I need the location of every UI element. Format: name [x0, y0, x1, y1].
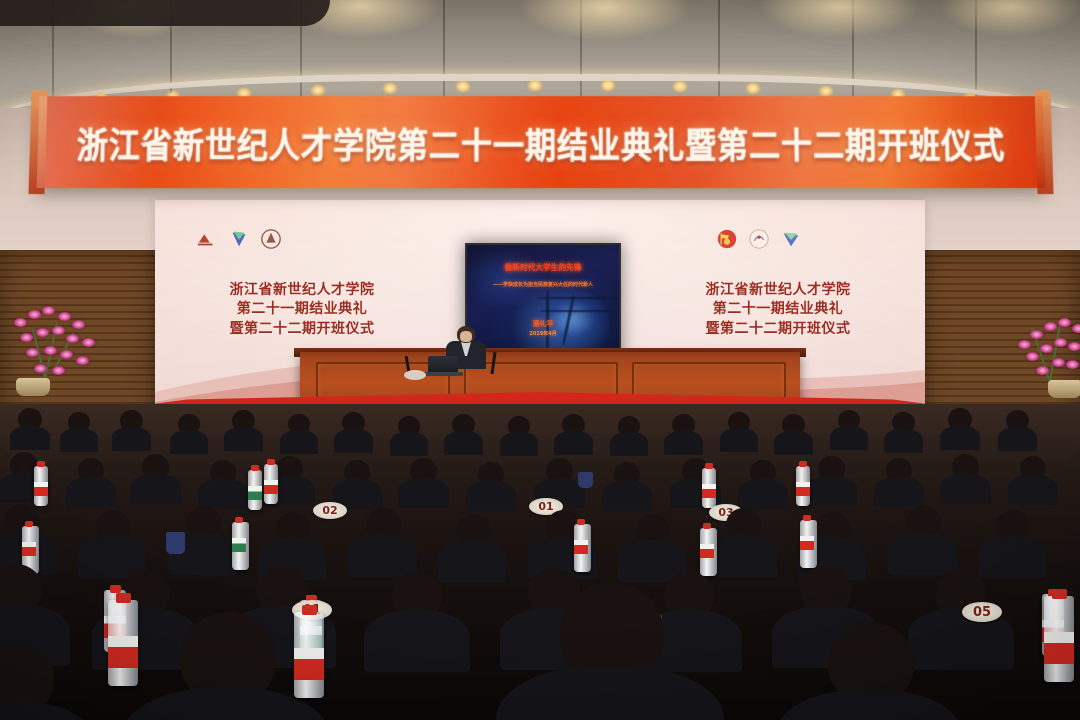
backdrop-logos-left	[196, 228, 282, 250]
event-banner-text: 浙江省新世纪人才学院第二十一期结业典礼暨第二十二期开班仪式	[76, 117, 1005, 167]
circular-seal-icon	[748, 228, 770, 250]
laptop-base	[423, 372, 463, 376]
slide-title: 做新时代大学生的先锋	[470, 262, 616, 273]
orchid-arrangement-right	[1000, 296, 1080, 416]
circular-seal-icon	[260, 228, 282, 250]
orchid-arrangement-left	[4, 300, 114, 410]
backdrop-left-line2: 第二十一期结业典礼	[196, 300, 408, 319]
audience-area: 02 01 03	[0, 404, 1080, 720]
backdrop-right-line3: 暨第二十二期开班仪式	[672, 320, 884, 339]
backdrop-logos-right	[716, 228, 802, 250]
institute-logo-icon	[196, 228, 218, 250]
projection-screen-content: 做新时代大学生的先锋 ——学快成长为担当民族复兴大任的时代新人 潘礼平 2019…	[467, 245, 619, 357]
backdrop-right-line2: 第二十一期结业典礼	[672, 300, 884, 319]
event-banner: 浙江省新世纪人才学院第二十一期结业典礼暨第二十二期开班仪式	[37, 96, 1046, 188]
backdrop-left-line1: 浙江省新世纪人才学院	[196, 281, 408, 300]
slide-date: 2019年4月	[467, 330, 619, 337]
slide-presenter: 潘礼平	[467, 319, 619, 329]
backdrop-left-line3: 暨第二十二期开班仪式	[196, 320, 408, 339]
foreground-bottles	[0, 404, 1080, 720]
backdrop-text-left: 浙江省新世纪人才学院 第二十一期结业典礼 暨第二十二期开班仪式	[196, 281, 408, 339]
teal-ribbon-icon	[780, 228, 802, 250]
conference-hall-photo: 浙江省新世纪人才学院 第二十一期结业典礼 暨第二十二期开班仪式 浙江省新世纪人才…	[0, 0, 1080, 720]
backdrop-right-line1: 浙江省新世纪人才学院	[672, 281, 884, 300]
podium-flower	[404, 370, 426, 380]
slide-subtitle: ——学快成长为担当民族复兴大任的时代新人	[467, 281, 619, 288]
communist-youth-league-emblem-icon	[716, 228, 738, 250]
laptop-screen	[428, 356, 458, 373]
backdrop-text-right: 浙江省新世纪人才学院 第二十一期结业典礼 暨第二十二期开班仪式	[672, 281, 884, 339]
teal-ribbon-icon	[228, 228, 250, 250]
projection-screen: 做新时代大学生的先锋 ——学快成长为担当民族复兴大任的时代新人 潘礼平 2019…	[465, 243, 621, 359]
